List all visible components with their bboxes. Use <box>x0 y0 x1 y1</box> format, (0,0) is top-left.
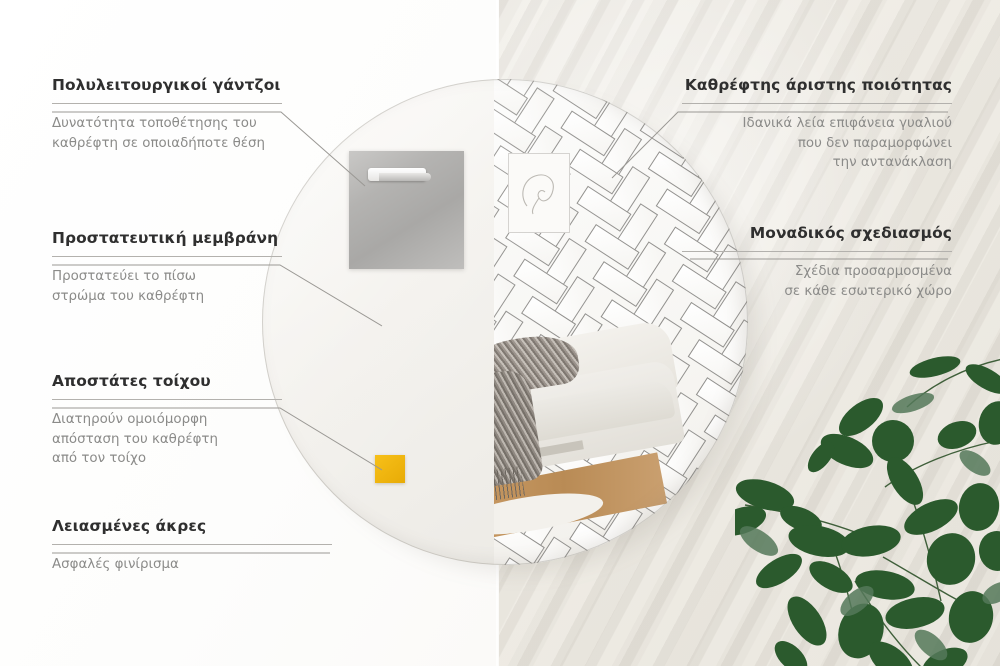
hanging-plate <box>349 151 464 269</box>
callout-rule <box>52 399 282 400</box>
throw-blanket <box>494 326 623 499</box>
callout-title: Μοναδικός σχεδιασμός <box>682 224 952 242</box>
round-mirror <box>262 79 748 565</box>
tile <box>720 490 748 536</box>
callout-title: Καθρέφτης άριστης ποιότητας <box>682 76 952 94</box>
callout-rule <box>682 251 952 252</box>
line-art-icon <box>509 154 567 230</box>
callout-rule <box>52 256 282 257</box>
callout-description: Δυνατότητα τοποθέτησης του καθρέφτη σε ο… <box>52 114 282 153</box>
tile <box>728 528 748 565</box>
callout-description: Σχέδια προσαρμοσμένα σε κάθε εσωτερικό χ… <box>682 262 952 301</box>
callout-description: Ιδανικά λεία επιφάνεια γυαλιού που δεν π… <box>682 114 952 172</box>
callout-title: Λειασμένες άκρες <box>52 517 332 535</box>
callout-rule <box>52 103 282 104</box>
callout-title: Πολυλειτουργικοί γάντζοι <box>52 76 282 94</box>
callout-smoothed-edges: Λειασμένες άκρες Ασφαλές φινίρισμα <box>52 517 332 575</box>
callout-unique-design: Μοναδικός σχεδιασμός Σχέδια προσαρμοσμέν… <box>682 224 952 301</box>
callout-top-quality-mirror: Καθρέφτης άριστης ποιότητας Ιδανικά λεία… <box>682 76 952 173</box>
callout-rule <box>682 103 952 104</box>
callout-description: Ασφαλές φινίρισμα <box>52 555 332 574</box>
product-feature-diagram: Πολυλειτουργικοί γάντζοι Δυνατότητα τοπο… <box>0 0 1000 666</box>
callout-protective-membrane: Προστατευτική μεμβράνη Προστατεύει το πί… <box>52 229 282 306</box>
callout-rule <box>52 544 332 545</box>
callout-wall-spacers: Αποστάτες τοίχου Διατηρούν ομοιόμορφη απ… <box>52 372 282 469</box>
callout-title: Αποστάτες τοίχου <box>52 372 282 390</box>
hook-icon <box>379 173 431 181</box>
callout-title: Προστατευτική μεμβράνη <box>52 229 282 247</box>
callout-description: Διατηρούν ομοιόμορφη απόσταση του καθρέφ… <box>52 410 282 468</box>
framed-artwork <box>508 153 570 233</box>
callout-description: Προστατεύει το πίσω στρώμα του καθρέφτη <box>52 267 282 306</box>
wall-spacer <box>375 455 405 483</box>
callout-multifunctional-hooks: Πολυλειτουργικοί γάντζοι Δυνατότητα τοπο… <box>52 76 282 153</box>
